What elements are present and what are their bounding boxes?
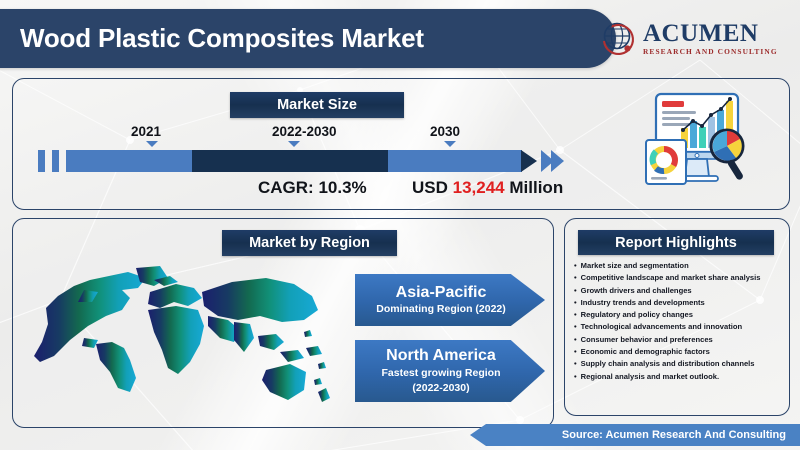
market-value-number: 13,244	[453, 178, 505, 197]
region-callout-title: North America	[386, 347, 496, 365]
region-callout-dominating[interactable]: Asia-Pacific Dominating Region (2022)	[355, 274, 545, 326]
list-item: •Consumer behavior and preferences	[574, 334, 786, 346]
bullet-icon: •	[574, 285, 577, 297]
logo-tagline: RESEARCH AND CONSULTING	[643, 48, 778, 55]
page-title: Wood Plastic Composites Market	[20, 23, 424, 54]
bullet-icon: •	[574, 272, 577, 284]
analytics-dashboard-icon	[640, 88, 752, 192]
source-banner: Source: Acumen Research And Consulting	[470, 424, 800, 446]
logo-text: ACUMEN RESEARCH AND CONSULTING	[643, 21, 778, 55]
marker-triangle-range	[288, 141, 300, 147]
list-item: •Competitive landscape and market share …	[574, 272, 786, 284]
timeline-chevron-2	[551, 150, 564, 172]
list-item: •Supply chain analysis and distribution …	[574, 358, 786, 370]
company-logo[interactable]: ACUMEN RESEARCH AND CONSULTING	[598, 12, 788, 64]
market-value-prefix: USD	[412, 178, 448, 197]
logo-name: ACUMEN	[643, 21, 778, 46]
marker-triangle-end	[444, 141, 456, 147]
year-label-start: 2021	[131, 124, 161, 139]
report-highlights-list: •Market size and segmentation •Competiti…	[574, 260, 786, 383]
bullet-icon: •	[574, 334, 577, 346]
marker-triangle-start	[146, 141, 158, 147]
market-size-badge: Market Size	[230, 92, 404, 118]
infographic-canvas: Wood Plastic Composites Market ACUMEN RE…	[0, 0, 800, 450]
region-callout-subtitle: Dominating Region (2022)	[376, 303, 506, 316]
market-value-suffix: Million	[509, 178, 563, 197]
region-callout-fastest-growing[interactable]: North America Fastest growing Region (20…	[355, 340, 545, 402]
timeline-segment-end	[388, 150, 522, 172]
market-value: USD 13,244 Million	[412, 178, 563, 198]
report-highlights-badge: Report Highlights	[578, 230, 774, 255]
bullet-icon: •	[574, 371, 577, 383]
bullet-icon: •	[574, 358, 577, 370]
timeline-tick-2	[52, 150, 59, 172]
year-label-end: 2030	[430, 124, 460, 139]
world-map-graphic	[18, 252, 348, 420]
bullet-icon: •	[574, 297, 577, 309]
list-item: •Regulatory and policy changes	[574, 309, 786, 321]
list-item: •Industry trends and developments	[574, 297, 786, 309]
bullet-icon: •	[574, 346, 577, 358]
header-bar: Wood Plastic Composites Market	[0, 9, 616, 68]
bullet-icon: •	[574, 309, 577, 321]
timeline-arrowhead	[521, 150, 537, 172]
list-item: •Economic and demographic factors	[574, 346, 786, 358]
region-callout-period: (2022-2030)	[412, 382, 469, 395]
cagr-value: CAGR: 10.3%	[258, 178, 367, 198]
timeline-tick-1	[38, 150, 45, 172]
timeline-segment-forecast	[192, 150, 388, 172]
timeline-segment-start	[66, 150, 192, 172]
bullet-icon: •	[574, 321, 577, 333]
globe-icon	[598, 18, 638, 58]
bullet-icon: •	[574, 260, 577, 272]
region-callout-subtitle: Fastest growing Region	[381, 367, 500, 380]
list-item: •Regional analysis and market outlook.	[574, 371, 786, 383]
list-item: •Technological advancements and innovati…	[574, 321, 786, 333]
year-label-range: 2022-2030	[272, 124, 337, 139]
list-item: •Growth drivers and challenges	[574, 285, 786, 297]
region-callout-title: Asia-Pacific	[396, 284, 487, 302]
list-item: •Market size and segmentation	[574, 260, 786, 272]
